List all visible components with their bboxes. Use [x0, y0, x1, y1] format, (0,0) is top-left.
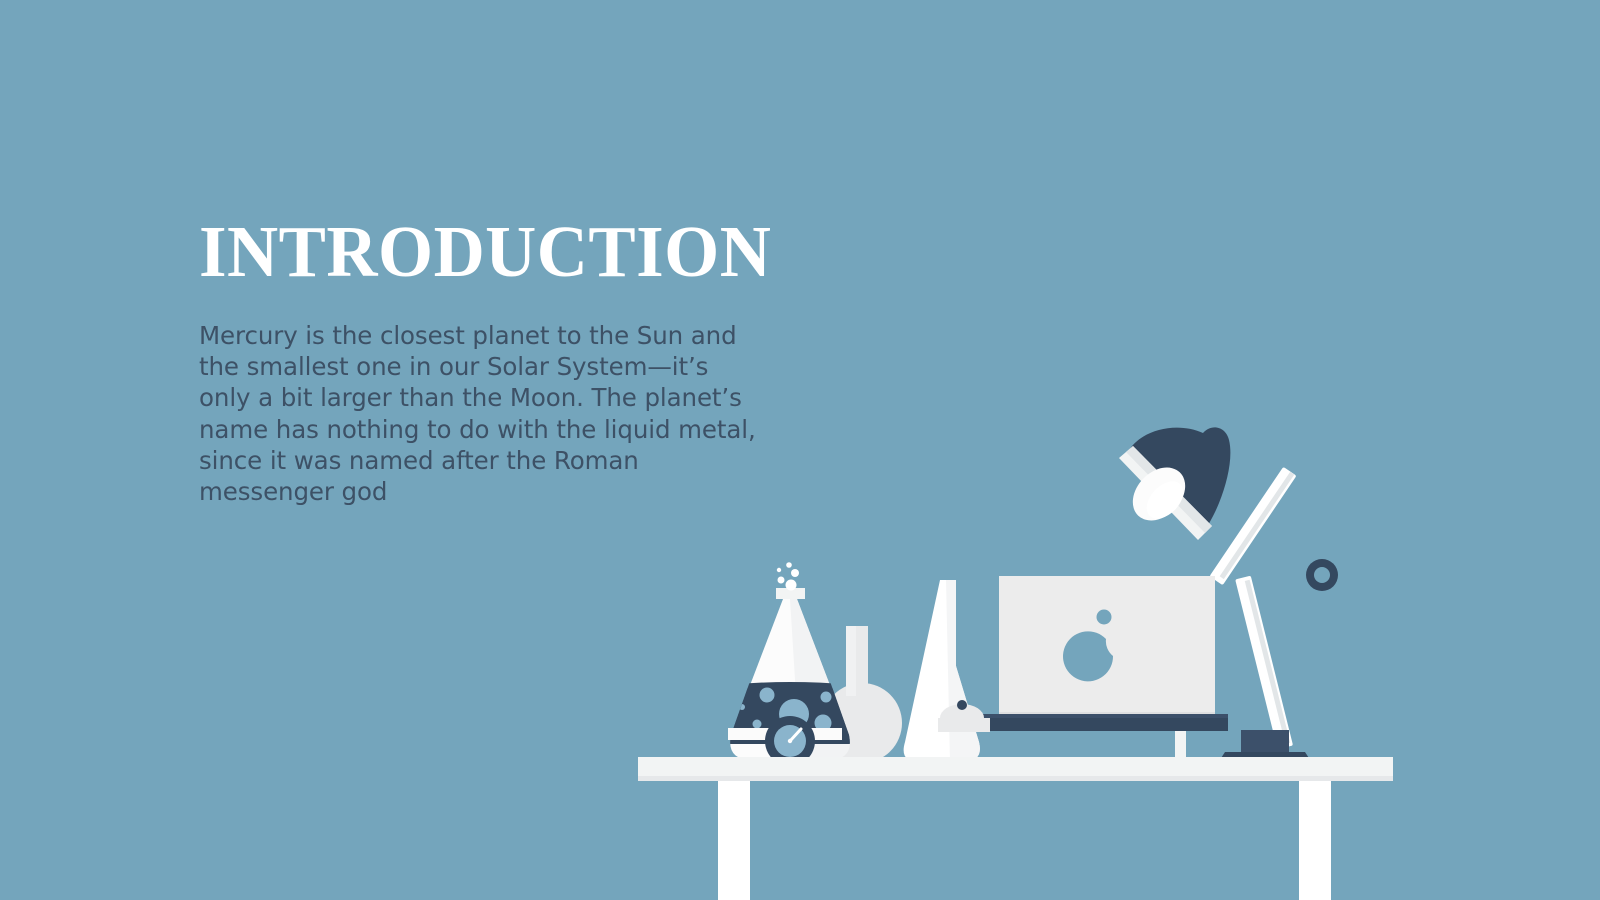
conical-flask [700, 588, 880, 760]
burner-stand [938, 700, 990, 732]
desk [638, 757, 1393, 900]
lamp-bulb [1122, 457, 1195, 531]
lamp-shade [1119, 427, 1230, 540]
slide-canvas: INTRODUCTION Mercury is the closest plan… [0, 0, 1600, 900]
text-block: INTRODUCTION Mercury is the closest plan… [199, 215, 799, 507]
lamp-base [1212, 730, 1318, 772]
desk-lamp [1119, 427, 1338, 772]
lamp-joint [1306, 559, 1338, 591]
desk-leg-right [1299, 781, 1331, 900]
page-title: INTRODUCTION [199, 215, 781, 288]
lamp-arm-upper [1209, 467, 1296, 585]
flask-steam-bubbles [777, 562, 799, 590]
flask-liquid-bubbles [739, 688, 832, 732]
laptop [938, 576, 1228, 763]
body-paragraph: Mercury is the closest planet to the Sun… [199, 288, 762, 507]
tall-flask [904, 580, 980, 762]
lamp-arm-lower [1235, 576, 1293, 750]
laptop-logo [1063, 610, 1113, 682]
desk-leg-left [718, 781, 750, 900]
pressure-gauge [765, 716, 815, 766]
round-bottom-flask [822, 626, 902, 763]
flask-liquid [700, 682, 880, 744]
